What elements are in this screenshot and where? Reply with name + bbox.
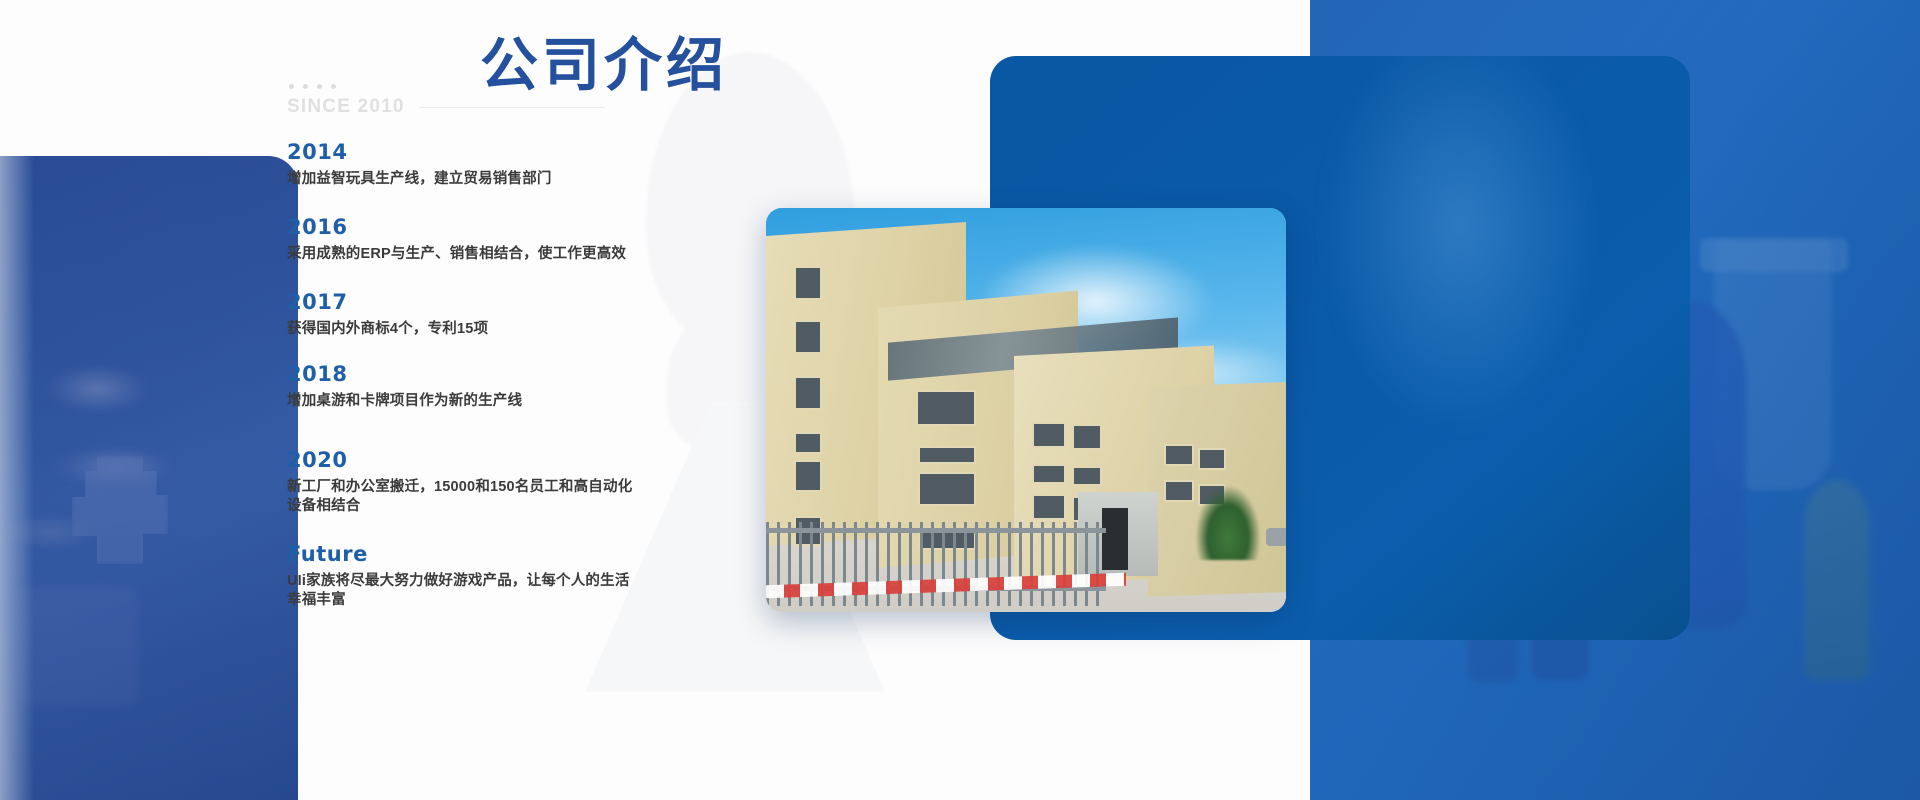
window [1198,448,1226,470]
since-label: SINCE 2010 [287,96,405,118]
timeline-description: 采用成熟的ERP与生产、销售相结合，使工作更高效 [287,245,659,264]
window [1072,466,1102,486]
window [1072,424,1102,450]
timeline-description: 增加桌游和卡牌项目作为新的生产线 [287,392,645,411]
since-row: SINCE 2010 [287,96,617,118]
timeline-description: 获得国内外商标4个，专利15项 [287,320,645,339]
since-block: SINCE 2010 [287,84,617,118]
page-root: 公司介绍 SINCE 2010 2014 增加益智玩具生产线，建立贸易销售部门 … [0,0,1920,800]
window [794,376,822,410]
timeline-year: 2020 [287,448,687,472]
window [1032,464,1066,484]
window [1032,494,1066,520]
timeline-year: 2018 [287,362,687,386]
window [794,460,822,492]
timeline-year: 2016 [287,215,687,239]
window [918,446,976,464]
window [916,390,976,426]
fence-rail-top [766,528,1106,533]
dot-row-icon [287,84,617,89]
dot-icon [331,84,336,89]
blue-tint-overlay [0,156,298,800]
timeline-description: 增加益智玩具生产线，建立贸易销售部门 [287,170,645,189]
timeline-item: Future UIi家族将尽最大努力做好游戏产品，让每个人的生活幸福丰富 [287,542,687,610]
hand-holding-puzzle-piece-photo [0,156,298,800]
dot-icon [317,84,322,89]
timeline-description: 新工厂和办公室搬迁，15000和150名员工和高自动化设备相结合 [287,478,645,516]
timeline-item: 2016 采用成熟的ERP与生产、销售相结合，使工作更高效 [287,215,687,264]
dot-icon [303,84,308,89]
timeline-item: 2014 增加益智玩具生产线，建立贸易销售部门 [287,140,687,189]
window [794,266,822,300]
window [1164,444,1194,466]
window [1032,422,1066,448]
timeline-item: 2020 新工厂和办公室搬迁，15000和150名员工和高自动化设备相结合 [287,448,687,516]
window [794,320,822,354]
window [918,472,976,506]
edge-fade [0,156,34,800]
divider-line [419,107,605,108]
timeline-item: 2018 增加桌游和卡牌项目作为新的生产线 [287,362,687,411]
window [1164,480,1194,502]
window [794,432,822,454]
timeline-year: 2014 [287,140,687,164]
parked-vehicle [1266,528,1286,546]
card-glow [1320,56,1600,436]
timeline-description: UIi家族将尽最大努力做好游戏产品，让每个人的生活幸福丰富 [287,572,643,610]
timeline-year: 2017 [287,290,687,314]
timeline-year: Future [287,542,687,566]
factory-building-photo [766,208,1286,612]
dot-icon [289,84,294,89]
company-timeline: 2014 增加益智玩具生产线，建立贸易销售部门 2016 采用成熟的ERP与生产… [287,140,687,610]
timeline-item: 2017 获得国内外商标4个，专利15项 [287,290,687,339]
palm-plant [1196,486,1260,560]
